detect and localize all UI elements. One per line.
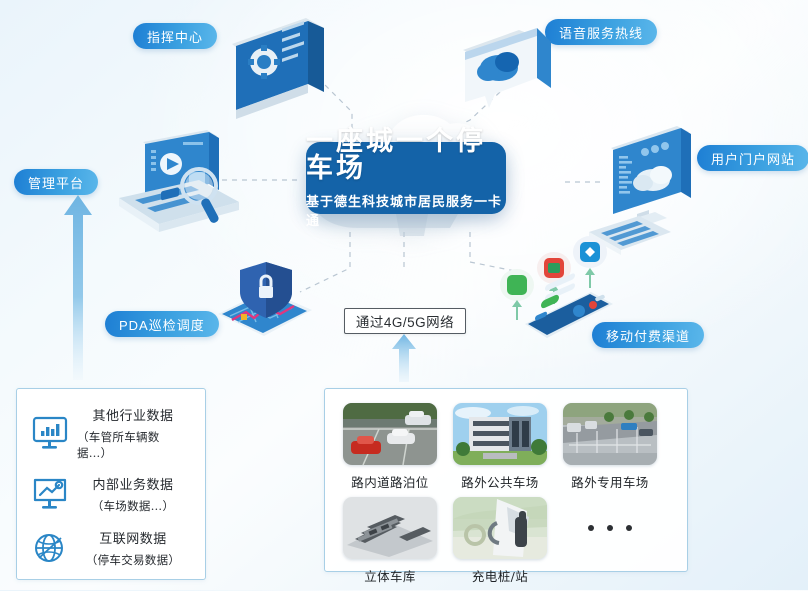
smartphone-icon <box>495 230 625 350</box>
street-parking-photo <box>343 403 437 465</box>
data-source-title: 互联网数据 <box>99 528 167 547</box>
laptop-icon <box>95 128 245 248</box>
data-source-row[interactable]: 互联网数据 （停车交易数据） <box>29 527 205 569</box>
scenario-label: 路外公共车场 <box>461 472 538 491</box>
network-note-box: 通过4G/5G网络 <box>344 308 466 334</box>
data-source-row[interactable]: 其他行业数据 （车管所车辆数据…） <box>29 405 205 461</box>
speech-cloud-icon <box>455 16 565 116</box>
ellipsis-icon <box>561 497 659 559</box>
scenario-label: 充电桩/站 <box>472 566 528 585</box>
bar-chart-monitor-icon <box>29 412 71 454</box>
data-source-row[interactable]: 内部业务数据 （车场数据…） <box>29 473 205 515</box>
center-banner-subtitle: 基于德生科技城市居民服务一卡通 <box>306 191 506 229</box>
scenario-label: 路内道路泊位 <box>351 472 428 491</box>
data-sources-panel: 其他行业数据 （车管所车辆数据…） 内部业务数据 （车场数据…） <box>16 388 206 580</box>
scenario-card[interactable]: 立体车库 <box>341 497 439 585</box>
scenario-card[interactable]: 充电桩/站 <box>451 497 549 585</box>
data-source-title: 其他行业数据 <box>92 405 173 424</box>
scenario-more <box>561 497 659 585</box>
node-label-pda-patrol[interactable]: PDA巡检调度 <box>105 311 219 337</box>
center-banner: 一座城一个停车场 基于德生科技城市居民服务一卡通 <box>306 142 506 214</box>
scenario-card[interactable]: 路外专用车场 <box>561 403 659 491</box>
scenario-card[interactable]: 路外公共车场 <box>451 403 549 491</box>
mechanical-parking-photo <box>343 497 437 559</box>
private-lot-aerial-photo <box>563 403 657 465</box>
data-flow-up-arrow <box>60 195 96 380</box>
center-banner-title: 一座城一个停车场 <box>306 128 506 182</box>
scenarios-panel: 路内道路泊位 <box>324 388 688 572</box>
line-chart-monitor-icon <box>29 473 71 515</box>
scenario-label: 立体车库 <box>364 566 416 585</box>
public-garage-building-photo <box>453 403 547 465</box>
network-up-arrow <box>385 334 423 382</box>
gear-monitor-icon <box>220 14 335 124</box>
data-source-detail: （停车交易数据） <box>86 552 180 568</box>
globe-network-icon <box>29 527 71 569</box>
scenario-label: 路外专用车场 <box>571 472 648 491</box>
node-label-command-center[interactable]: 指挥中心 <box>133 23 217 49</box>
data-source-detail: （车管所车辆数据…） <box>77 429 189 461</box>
data-source-title: 内部业务数据 <box>92 474 173 493</box>
node-label-management-platform[interactable]: 管理平台 <box>14 169 98 195</box>
ev-charger-photo <box>453 497 547 559</box>
data-source-detail: （车场数据…） <box>92 498 175 514</box>
network-note-label: 通过4G/5G网络 <box>356 311 454 331</box>
diagram-canvas: 一座城一个停车场 基于德生科技城市居民服务一卡通 指挥中心 语音服务热线 <box>0 0 808 590</box>
scenario-card[interactable]: 路内道路泊位 <box>341 403 439 491</box>
shield-lock-tablet-icon <box>208 252 320 342</box>
